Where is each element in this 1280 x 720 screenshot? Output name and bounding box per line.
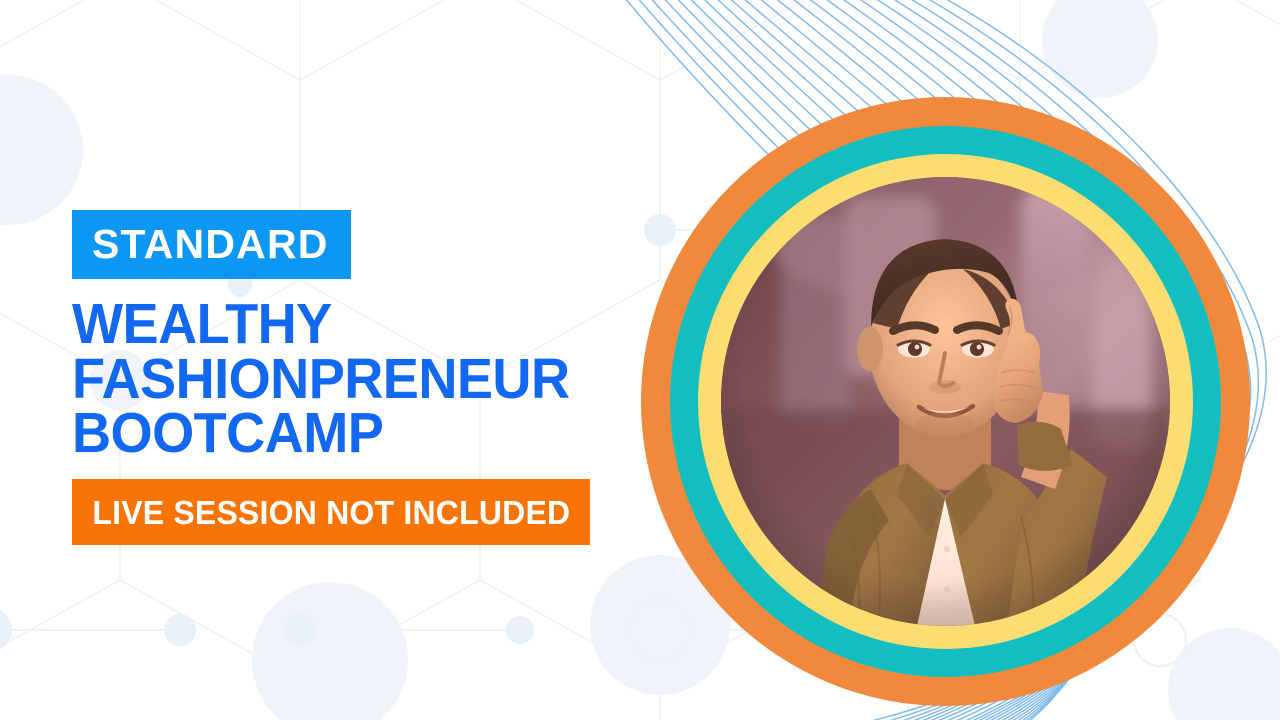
tier-badge: STANDARD bbox=[72, 210, 351, 279]
headline-line-1: WEALTHY bbox=[72, 297, 623, 352]
headline-line-3: BOOTCAMP bbox=[72, 406, 623, 461]
page-title: WEALTHY FASHIONPRENEUR BOOTCAMP bbox=[72, 297, 623, 461]
text-block: STANDARD WEALTHY FASHIONPRENEUR BOOTCAMP… bbox=[72, 210, 652, 545]
headline-line-2: FASHIONPRENEUR bbox=[72, 352, 623, 407]
note-bar: LIVE SESSION NOT INCLUDED bbox=[72, 479, 590, 545]
promo-banner: STANDARD WEALTHY FASHIONPRENEUR BOOTCAMP… bbox=[0, 0, 1280, 720]
portrait-photo bbox=[721, 177, 1170, 626]
portrait-medallion bbox=[641, 97, 1250, 706]
ring-teal bbox=[670, 126, 1221, 677]
ring-yellow bbox=[698, 154, 1193, 649]
